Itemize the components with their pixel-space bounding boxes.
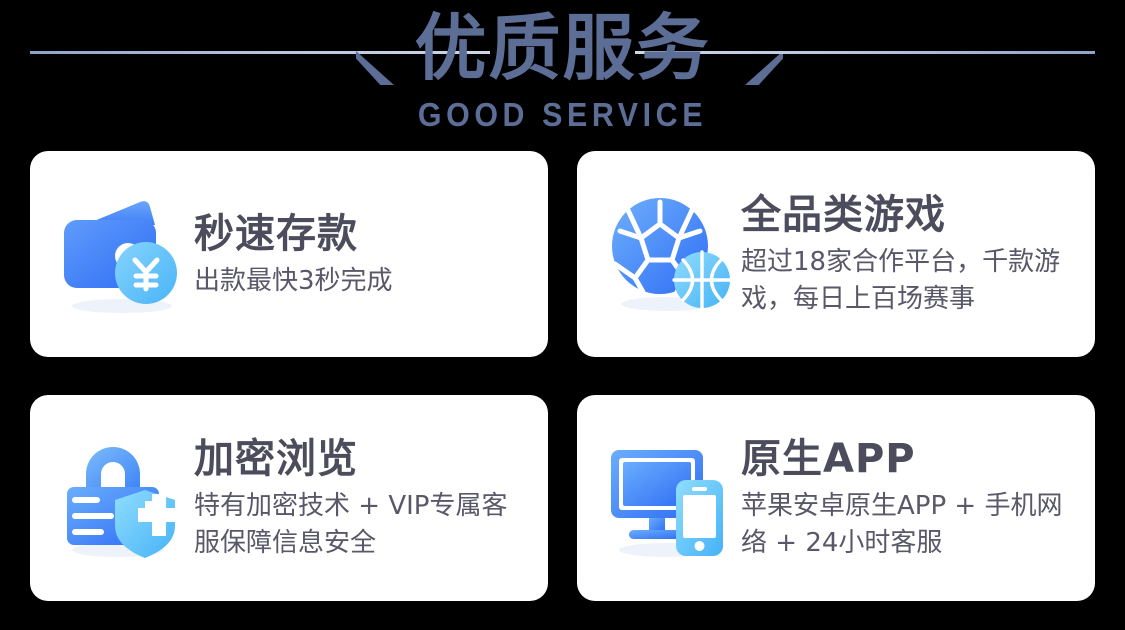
- feature-card-text: 加密浏览 特有加密技术 + VIP专属客服保障信息安全: [194, 434, 530, 562]
- feature-card-text: 全品类游戏 超过18家合作平台，千款游戏，每日上百场赛事: [741, 190, 1077, 318]
- page-title: 优质服务: [0, 6, 1125, 90]
- feature-card-title: 原生APP: [741, 434, 1077, 484]
- feature-card-desc: 超过18家合作平台，千款游戏，每日上百场赛事: [741, 244, 1077, 318]
- feature-card-grid: 秒速存款 出款最快3秒完成: [30, 151, 1095, 601]
- feature-card-desc: 特有加密技术 + VIP专属客服保障信息安全: [194, 488, 530, 562]
- soccer-basketball-icon: [603, 188, 735, 320]
- feature-card-title: 加密浏览: [194, 434, 530, 484]
- feature-card-desc: 苹果安卓原生APP + 手机网络 + 24小时客服: [741, 488, 1077, 562]
- feature-card[interactable]: 加密浏览 特有加密技术 + VIP专属客服保障信息安全: [30, 395, 548, 601]
- page-header: 优质服务 GOOD SERVICE: [0, 0, 1125, 150]
- feature-card[interactable]: 全品类游戏 超过18家合作平台，千款游戏，每日上百场赛事: [577, 151, 1095, 357]
- feature-card[interactable]: 原生APP 苹果安卓原生APP + 手机网络 + 24小时客服: [577, 395, 1095, 601]
- wallet-coin-icon: [56, 188, 188, 320]
- monitor-phone-icon: [603, 432, 735, 564]
- feature-card-text: 原生APP 苹果安卓原生APP + 手机网络 + 24小时客服: [741, 434, 1077, 562]
- feature-card-title: 全品类游戏: [741, 190, 1077, 240]
- feature-card[interactable]: 秒速存款 出款最快3秒完成: [30, 151, 548, 357]
- lock-shield-icon: [56, 432, 188, 564]
- feature-card-desc: 出款最快3秒完成: [194, 263, 530, 300]
- feature-card-text: 秒速存款 出款最快3秒完成: [194, 209, 530, 300]
- page-subtitle: GOOD SERVICE: [45, 96, 1080, 134]
- feature-card-title: 秒速存款: [194, 209, 530, 259]
